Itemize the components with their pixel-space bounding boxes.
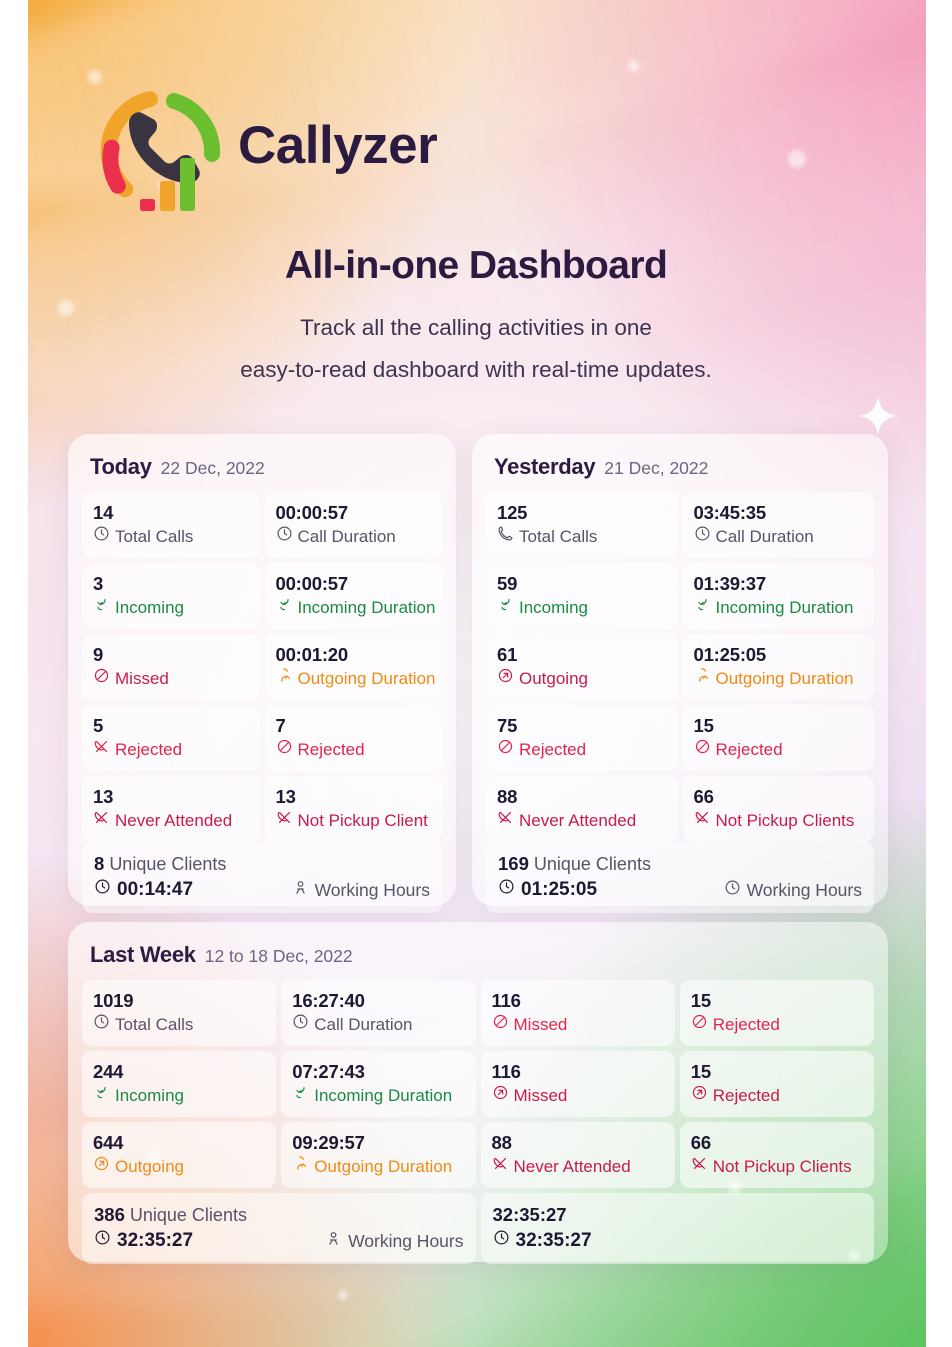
metric-label: Call Duration — [716, 525, 814, 549]
phone-slash-icon — [93, 738, 110, 762]
summary-line-1: 8 Unique Clients — [94, 851, 430, 877]
blocked-icon — [691, 1013, 708, 1037]
metric-value: 5 — [93, 714, 249, 738]
metric-row: 75 Rejected 15 Rejected — [486, 705, 874, 771]
sparkle-icon — [856, 394, 900, 438]
blocked-icon — [694, 738, 711, 762]
metric-value: 1019 — [93, 989, 265, 1013]
incoming-call-icon — [292, 1084, 309, 1108]
summary-time: 32:35:27 — [516, 1228, 592, 1254]
summary-line-1: 169 Unique Clients — [498, 851, 862, 877]
clock-icon — [493, 1228, 510, 1254]
metric-value: 61 — [497, 643, 667, 667]
metric-row: 13 Never Attended 13 Not Pickup Client — [82, 776, 442, 842]
metric-label-row: Call Duration — [276, 525, 432, 549]
metric-row: 59 Incoming 01:39:37 Incoming Duration — [486, 563, 874, 629]
phone-slash-icon — [694, 809, 711, 833]
today-metric-grid: 14 Total Calls 00:00:57 Call Duration 3 — [82, 492, 442, 842]
metric-label: Call Duration — [314, 1013, 412, 1037]
last-week-panel-header: Last Week 12 to 18 Dec, 2022 — [82, 936, 874, 980]
clock-icon — [93, 1013, 110, 1037]
summary-count: 386 — [94, 1204, 125, 1225]
metric-value: 88 — [492, 1131, 664, 1155]
metric-label: Never Attended — [519, 809, 636, 833]
callyzer-logo-icon — [96, 86, 226, 216]
yesterday-summary: 169 Unique Clients 01:25:05 Working Hour… — [486, 842, 874, 913]
metric-value: 16:27:40 — [292, 989, 464, 1013]
metric-row: 88 Never Attended 66 Not Pickup Clients — [486, 776, 874, 842]
summary-line-1: 32:35:27 — [493, 1202, 863, 1228]
metric-value: 3 — [93, 572, 249, 596]
metric-label: Rejected — [519, 738, 586, 762]
clock-icon — [292, 1013, 309, 1037]
metric-value: 125 — [497, 501, 667, 525]
metric-row: 9 Missed 00:01:20 Outgoing Duration — [82, 634, 442, 700]
clock-icon — [498, 877, 515, 903]
metric-label: Rejected — [713, 1013, 780, 1037]
metric-label-row: Not Pickup Clients — [691, 1155, 863, 1179]
metric-cell[interactable]: 88 Never Attended — [481, 1122, 675, 1188]
metric-value: 01:25:05 — [694, 643, 864, 667]
metric-value: 00:00:57 — [276, 572, 432, 596]
metric-cell[interactable]: 7 Rejected — [265, 705, 443, 771]
working-hours-label: Working Hours — [348, 1228, 463, 1254]
metric-cell[interactable]: 13 Not Pickup Client — [265, 776, 443, 842]
metric-label: Not Pickup Client — [298, 809, 428, 833]
metric-label-row: Missed — [492, 1013, 664, 1037]
metric-value: 14 — [93, 501, 249, 525]
metric-label-row: Outgoing Duration — [292, 1155, 464, 1179]
clock-icon — [94, 877, 111, 903]
phone-slash-icon — [276, 809, 293, 833]
metric-cell[interactable]: 75 Rejected — [486, 705, 678, 771]
metric-cell[interactable]: 09:29:57 Outgoing Duration — [281, 1122, 475, 1188]
outgoing-call-icon — [276, 667, 293, 691]
metric-label: Rejected — [298, 738, 365, 762]
working-hours-label: Working Hours — [747, 877, 862, 903]
last-week-summary-right: 32:35:27 32:35:27 — [481, 1193, 875, 1264]
metric-row: 61 Outgoing 01:25:05 Outgoing Duration — [486, 634, 874, 700]
clock-icon — [94, 1228, 111, 1254]
metric-label: Incoming Duration — [298, 596, 436, 620]
metric-cell[interactable]: 1019 Total Calls — [82, 980, 276, 1046]
metric-label-row: Call Duration — [694, 525, 864, 549]
metric-label: Call Duration — [298, 525, 396, 549]
metric-label: Outgoing — [115, 1155, 184, 1179]
metric-label: Outgoing Duration — [298, 667, 436, 691]
metric-label-row: Rejected — [497, 738, 667, 762]
metric-label: Missed — [514, 1084, 568, 1108]
metric-label-row: Incoming — [93, 596, 249, 620]
metric-cell[interactable]: 116 Missed — [481, 980, 675, 1046]
incoming-call-icon — [694, 596, 711, 620]
metric-label-row: Incoming Duration — [694, 596, 864, 620]
metric-label: Rejected — [713, 1084, 780, 1108]
metric-cell[interactable]: 01:25:05 Outgoing Duration — [683, 634, 875, 700]
metric-cell[interactable]: 116 Missed — [481, 1051, 675, 1117]
working-hours-group: Working Hours — [292, 877, 430, 903]
metric-label: Incoming Duration — [314, 1084, 452, 1108]
metric-label-row: Incoming — [497, 596, 667, 620]
last-week-date: 12 to 18 Dec, 2022 — [205, 946, 353, 967]
metric-cell[interactable]: 15 Rejected — [680, 980, 874, 1046]
metric-label: Not Pickup Clients — [713, 1155, 852, 1179]
metric-label-row: Outgoing — [93, 1155, 265, 1179]
metric-cell[interactable]: 9 Missed — [82, 634, 260, 700]
metric-label-row: Rejected — [691, 1013, 863, 1037]
metric-value: 644 — [93, 1131, 265, 1155]
metric-cell[interactable]: 16:27:40 Call Duration — [281, 980, 475, 1046]
metric-cell[interactable]: 3 Incoming — [82, 563, 260, 629]
metric-cell[interactable]: 14 Total Calls — [82, 492, 260, 558]
summary-time-group: 32:35:27 — [493, 1228, 592, 1254]
metric-cell[interactable]: 244 Incoming — [82, 1051, 276, 1117]
metric-label: Missed — [514, 1013, 568, 1037]
metric-value: 88 — [497, 785, 667, 809]
working-hours-group: Working Hours — [724, 877, 862, 903]
metric-row: 644 Outgoing 09:29:57 Outgoing Duration … — [82, 1122, 874, 1188]
last-week-title: Last Week — [90, 942, 196, 968]
metric-cell[interactable]: 00:00:57 Incoming Duration — [265, 563, 443, 629]
phone-slash-icon — [492, 1155, 509, 1179]
blocked-icon — [492, 1013, 509, 1037]
metric-row: 14 Total Calls 00:00:57 Call Duration — [82, 492, 442, 558]
metric-cell[interactable]: 01:39:37 Incoming Duration — [683, 563, 875, 629]
summary-count-label: Unique Clients — [534, 854, 651, 874]
metric-value: 15 — [691, 1060, 863, 1084]
metric-label-row: Total Calls — [497, 525, 667, 549]
page-title: All-in-one Dashboard — [0, 244, 952, 288]
metric-label: Outgoing Duration — [716, 667, 854, 691]
metric-label-row: Total Calls — [93, 1013, 265, 1037]
outgoing-call-icon — [292, 1155, 309, 1179]
metric-label: Total Calls — [115, 525, 193, 549]
metric-label-row: Incoming Duration — [292, 1084, 464, 1108]
person-icon — [325, 1228, 342, 1254]
metric-label-row: Incoming Duration — [276, 596, 432, 620]
metric-cell[interactable]: 61 Outgoing — [486, 634, 678, 700]
subtitle-line-1: Track all the calling activities in one — [0, 307, 952, 349]
metric-cell[interactable]: 15 Rejected — [683, 705, 875, 771]
summary-line-2: 01:25:05 Working Hours — [498, 877, 862, 903]
metric-label: Incoming — [115, 1084, 184, 1108]
metric-value: 116 — [492, 989, 664, 1013]
yesterday-metric-grid: 125 Total Calls 03:45:35 Call Duration 5… — [486, 492, 874, 842]
metric-label: Never Attended — [514, 1155, 631, 1179]
summary-count-label: Unique Clients — [130, 1205, 247, 1225]
last-week-metric-grid: 1019 Total Calls 16:27:40 Call Duration … — [82, 980, 874, 1188]
today-title: Today — [90, 454, 152, 480]
metric-label: Outgoing Duration — [314, 1155, 452, 1179]
yesterday-date: 21 Dec, 2022 — [604, 458, 708, 479]
summary-time: 01:25:05 — [521, 877, 597, 903]
summary-time: 32:35:27 — [117, 1228, 193, 1254]
metric-label-row: Never Attended — [492, 1155, 664, 1179]
incoming-call-icon — [93, 596, 110, 620]
metric-label-row: Outgoing Duration — [276, 667, 432, 691]
metric-label-row: Missed — [93, 667, 249, 691]
summary-line-2: 32:35:27 — [493, 1228, 863, 1254]
outgoing-call-icon — [694, 667, 711, 691]
metric-value: 59 — [497, 572, 667, 596]
today-date: 22 Dec, 2022 — [161, 458, 265, 479]
metric-row: 1019 Total Calls 16:27:40 Call Duration … — [82, 980, 874, 1046]
metric-row: 244 Incoming 07:27:43 Incoming Duration … — [82, 1051, 874, 1117]
metric-value: 66 — [694, 785, 864, 809]
yesterday-panel-header: Yesterday 21 Dec, 2022 — [486, 448, 874, 492]
metric-value: 00:00:57 — [276, 501, 432, 525]
last-week-panel: Last Week 12 to 18 Dec, 2022 1019 Total … — [68, 922, 888, 1262]
metric-value: 03:45:35 — [694, 501, 864, 525]
metric-value: 07:27:43 — [292, 1060, 464, 1084]
today-panel: Today 22 Dec, 2022 14 Total Calls 00:00:… — [68, 434, 456, 906]
metric-row: 125 Total Calls 03:45:35 Call Duration — [486, 492, 874, 558]
metric-value: 116 — [492, 1060, 664, 1084]
summary-count: 8 — [94, 853, 104, 874]
summary-time-group: 00:14:47 — [94, 877, 193, 903]
metric-cell[interactable]: 15 Rejected — [680, 1051, 874, 1117]
metric-label: Incoming Duration — [716, 596, 854, 620]
metric-cell[interactable]: 00:00:57 Call Duration — [265, 492, 443, 558]
working-hours-group: Working Hours — [325, 1228, 463, 1254]
outgoing-circle-icon — [691, 1084, 708, 1108]
metric-row: 5 Rejected 7 Rejected — [82, 705, 442, 771]
metric-value: 75 — [497, 714, 667, 738]
metric-label: Outgoing — [519, 667, 588, 691]
metric-label: Rejected — [115, 738, 182, 762]
metric-label: Total Calls — [519, 525, 597, 549]
blocked-icon — [276, 738, 293, 762]
summary-line-1: 386 Unique Clients — [94, 1202, 464, 1228]
today-panel-header: Today 22 Dec, 2022 — [82, 448, 442, 492]
metric-label: Not Pickup Clients — [716, 809, 855, 833]
metric-label: Never Attended — [115, 809, 232, 833]
incoming-call-icon — [93, 1084, 110, 1108]
metric-label-row: Not Pickup Clients — [694, 809, 864, 833]
metric-label-row: Rejected — [694, 738, 864, 762]
metric-cell[interactable]: 125 Total Calls — [486, 492, 678, 558]
metric-cell[interactable]: 13 Never Attended — [82, 776, 260, 842]
metric-cell[interactable]: 59 Incoming — [486, 563, 678, 629]
summary-count: 32:35:27 — [493, 1204, 567, 1225]
page-subtitle: Track all the calling activities in one … — [0, 307, 952, 391]
summary-count-label: Unique Clients — [109, 854, 226, 874]
metric-value: 01:39:37 — [694, 572, 864, 596]
metric-label: Incoming — [115, 596, 184, 620]
incoming-call-icon — [497, 596, 514, 620]
metric-value: 66 — [691, 1131, 863, 1155]
summary-line-2: 00:14:47 Working Hours — [94, 877, 430, 903]
metric-label-row: Outgoing Duration — [694, 667, 864, 691]
poster-canvas: Callyzer All-in-one Dashboard Track all … — [0, 0, 952, 1347]
metric-label-row: Missed — [492, 1084, 664, 1108]
metric-label-row: Total Calls — [93, 525, 249, 549]
last-week-summary-left: 386 Unique Clients 32:35:27 Working Hour… — [82, 1193, 476, 1264]
metric-label-row: Outgoing — [497, 667, 667, 691]
phone-icon — [497, 525, 514, 549]
metric-value: 13 — [276, 785, 432, 809]
metric-cell[interactable]: 03:45:35 Call Duration — [683, 492, 875, 558]
metric-label-row: Rejected — [691, 1084, 863, 1108]
clock-icon — [276, 525, 293, 549]
phone-slash-icon — [691, 1155, 708, 1179]
working-hours-label: Working Hours — [315, 877, 430, 903]
clock-icon — [724, 877, 741, 903]
outgoing-circle-icon — [497, 667, 514, 691]
metric-value: 15 — [694, 714, 864, 738]
person-icon — [292, 877, 309, 903]
metric-cell[interactable]: 88 Never Attended — [486, 776, 678, 842]
metric-value: 09:29:57 — [292, 1131, 464, 1155]
outgoing-circle-icon — [93, 1155, 110, 1179]
metric-label-row: Not Pickup Client — [276, 809, 432, 833]
metric-label-row: Never Attended — [93, 809, 249, 833]
metric-label-row: Rejected — [93, 738, 249, 762]
metric-label-row: Call Duration — [292, 1013, 464, 1037]
summary-time-group: 32:35:27 — [94, 1228, 193, 1254]
metric-cell[interactable]: 66 Not Pickup Clients — [680, 1122, 874, 1188]
metric-cell[interactable]: 07:27:43 Incoming Duration — [281, 1051, 475, 1117]
clock-icon — [93, 525, 110, 549]
metric-label-row: Rejected — [276, 738, 432, 762]
summary-count: 169 — [498, 853, 529, 874]
blocked-icon — [93, 667, 110, 691]
metric-cell[interactable]: 66 Not Pickup Clients — [683, 776, 875, 842]
blocked-icon — [497, 738, 514, 762]
metric-cell[interactable]: 5 Rejected — [82, 705, 260, 771]
metric-cell[interactable]: 00:01:20 Outgoing Duration — [265, 634, 443, 700]
phone-slash-icon — [93, 809, 110, 833]
phone-slash-icon — [497, 809, 514, 833]
incoming-call-icon — [276, 596, 293, 620]
subtitle-line-2: easy-to-read dashboard with real-time up… — [0, 349, 952, 391]
metric-label: Missed — [115, 667, 169, 691]
metric-row: 3 Incoming 00:00:57 Incoming Duration — [82, 563, 442, 629]
summary-time-group: 01:25:05 — [498, 877, 597, 903]
metric-label-row: Incoming — [93, 1084, 265, 1108]
metric-value: 244 — [93, 1060, 265, 1084]
brand-name: Callyzer — [238, 115, 437, 176]
metric-cell[interactable]: 644 Outgoing — [82, 1122, 276, 1188]
metric-label: Total Calls — [115, 1013, 193, 1037]
today-summary: 8 Unique Clients 00:14:47 Working Hours — [82, 842, 442, 913]
summary-time: 00:14:47 — [117, 877, 193, 903]
metric-value: 00:01:20 — [276, 643, 432, 667]
metric-value: 15 — [691, 989, 863, 1013]
clock-icon — [694, 525, 711, 549]
yesterday-panel: Yesterday 21 Dec, 2022 125 Total Calls 0… — [472, 434, 888, 906]
metric-value: 7 — [276, 714, 432, 738]
outgoing-circle-icon — [492, 1084, 509, 1108]
metric-label: Incoming — [519, 596, 588, 620]
metric-label: Rejected — [716, 738, 783, 762]
metric-label-row: Never Attended — [497, 809, 667, 833]
metric-value: 13 — [93, 785, 249, 809]
metric-value: 9 — [93, 643, 249, 667]
yesterday-title: Yesterday — [494, 454, 595, 480]
summary-line-2: 32:35:27 Working Hours — [94, 1228, 464, 1254]
